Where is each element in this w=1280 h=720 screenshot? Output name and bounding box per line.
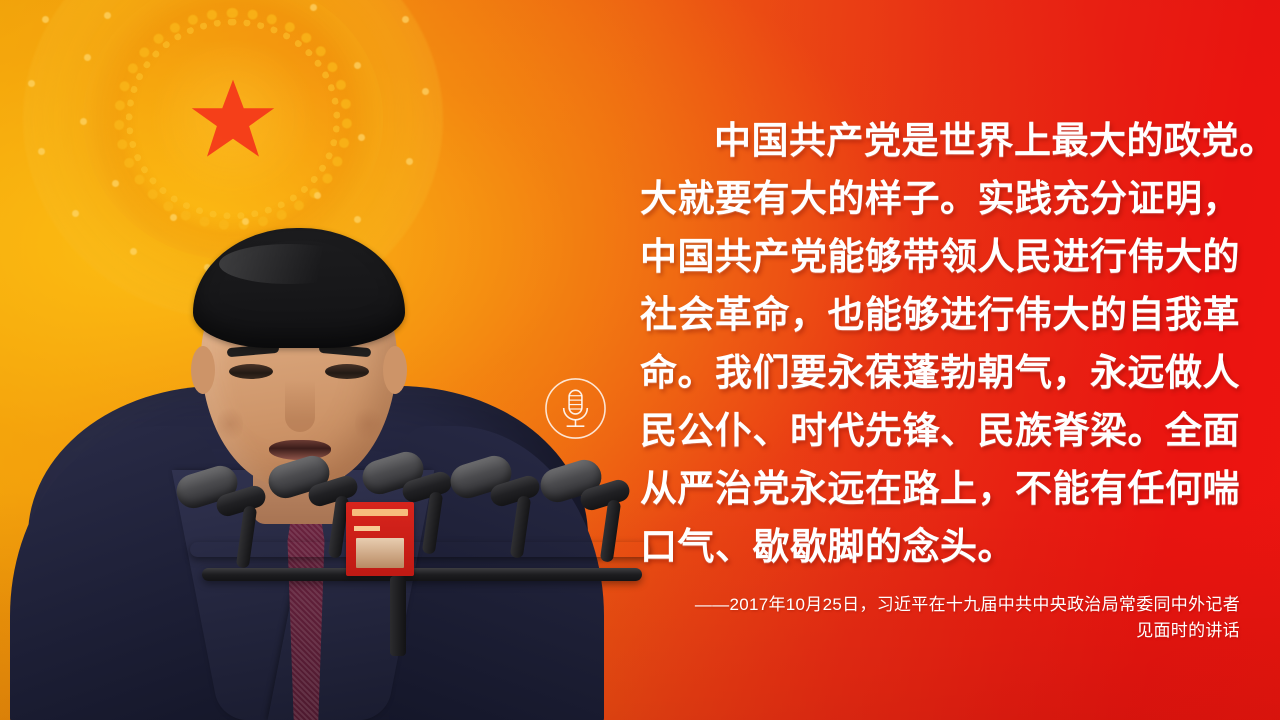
attribution-block: ——2017年10月25日，习近平在十九届中共中央政治局常委同中外记者 见面时的…: [640, 592, 1240, 644]
quote-line-1: 中国共产党是世界上最大的政党。: [640, 112, 1240, 170]
quote-line-5: 命。我们要永葆蓬勃朝气，永远做人: [640, 344, 1240, 402]
quote-line-4: 社会革命，也能够进行伟大的自我革: [640, 286, 1240, 344]
mic-stand-post: [390, 576, 406, 656]
microphone-rig: [150, 456, 670, 656]
quote-line-8: 口气、歇歇脚的念头。: [640, 518, 1240, 576]
placard-text-line: [354, 526, 380, 531]
eye-right: [325, 364, 369, 379]
mic-stalk-5: [600, 499, 622, 562]
cheek-left: [217, 404, 243, 444]
quote-line-3: 中国共产党能够带领人民进行伟大的: [640, 228, 1240, 286]
placard-photo: [356, 538, 404, 568]
quote-poster: 中国共产党是世界上最大的政党。 大就要有大的样子。实践充分证明， 中国共产党能够…: [0, 0, 1280, 720]
podium-placard: [346, 502, 414, 576]
microphone-5: [540, 464, 636, 572]
quote-line-7: 从严治党永远在路上，不能有任何喘: [640, 460, 1240, 518]
microphone-1: [176, 470, 272, 578]
microphone-icon: [544, 377, 607, 440]
ear-right: [383, 346, 407, 394]
speaker-photo: [0, 0, 700, 720]
attribution-line-1: ——2017年10月25日，习近平在十九届中共中央政治局常委同中外记者: [640, 592, 1240, 618]
quote-block: 中国共产党是世界上最大的政党。 大就要有大的样子。实践充分证明， 中国共产党能够…: [640, 112, 1240, 576]
mic-stalk-4: [510, 495, 532, 558]
eye-left: [229, 364, 273, 379]
mic-stalk-3: [422, 491, 444, 554]
microphone-4: [450, 460, 546, 568]
ear-left: [191, 346, 215, 394]
hair: [193, 228, 405, 348]
cheek-right: [355, 404, 381, 444]
mic-stalk-1: [236, 505, 258, 568]
quote-line-2: 大就要有大的样子。实践充分证明，: [640, 170, 1240, 228]
placard-header-band: [352, 509, 408, 516]
quote-line-6: 民公仆、时代先锋、民族脊梁。全面: [640, 402, 1240, 460]
attribution-line-2: 见面时的讲话: [640, 618, 1240, 644]
nose: [285, 380, 315, 432]
